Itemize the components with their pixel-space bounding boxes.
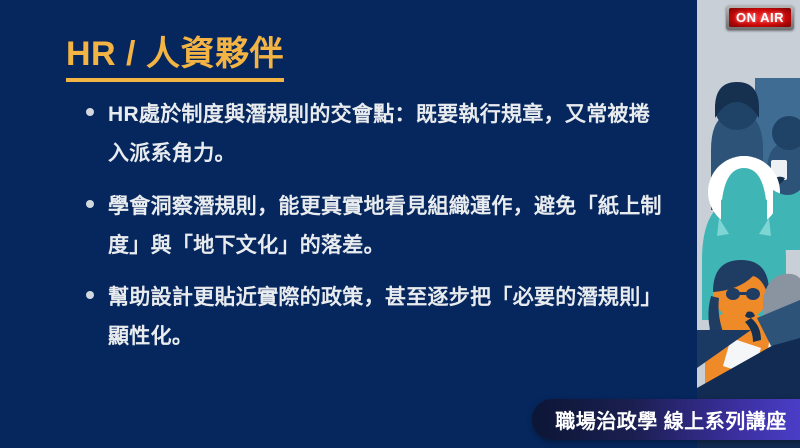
list-item: HR處於制度與潛規則的交會點：既要執行規章，又常被捲入派系角力。 <box>86 96 666 174</box>
bullet-dot-icon <box>86 108 94 116</box>
slide-content-area: HR / 人資夥伴 HR處於制度與潛規則的交會點：既要執行規章，又常被捲入派系角… <box>0 0 697 448</box>
bullet-dot-icon <box>86 291 94 299</box>
bullet-text: 學會洞察潛規則，能更真實地看見組織運作，避免「紙上制度」與「地下文化」的落差。 <box>108 188 666 266</box>
status-badge: ON AIR <box>726 5 794 30</box>
list-item: 學會洞察潛規則，能更真實地看見組織運作，避免「紙上制度」與「地下文化」的落差。 <box>86 188 666 266</box>
bullet-list: HR處於制度與潛規則的交會點：既要執行規章，又常被捲入派系角力。 學會洞察潛規則… <box>86 96 666 371</box>
illustration-panel: S <box>697 0 800 448</box>
on-air-label: ON AIR <box>736 11 784 24</box>
presentation-slide: HR / 人資夥伴 HR處於制度與潛規則的交會點：既要執行規章，又常被捲入派系角… <box>0 0 800 448</box>
series-banner-label: 職場治政學 線上系列講座 <box>555 405 799 434</box>
series-banner: 職場治政學 線上系列講座 <box>532 399 800 440</box>
bullet-dot-icon <box>86 200 94 208</box>
online-lecture-audience-illustration: S <box>697 0 800 448</box>
list-item: 幫助設計更貼近實際的政策，甚至逐步把「必要的潛規則」顯性化。 <box>86 279 666 357</box>
bullet-text: 幫助設計更貼近實際的政策，甚至逐步把「必要的潛規則」顯性化。 <box>108 279 666 357</box>
bullet-text: HR處於制度與潛規則的交會點：既要執行規章，又常被捲入派系角力。 <box>108 96 666 174</box>
page-title: HR / 人資夥伴 <box>66 36 284 82</box>
slide-title-wrapper: HR / 人資夥伴 <box>66 36 284 82</box>
on-air-indicator: ON AIR <box>729 8 791 27</box>
